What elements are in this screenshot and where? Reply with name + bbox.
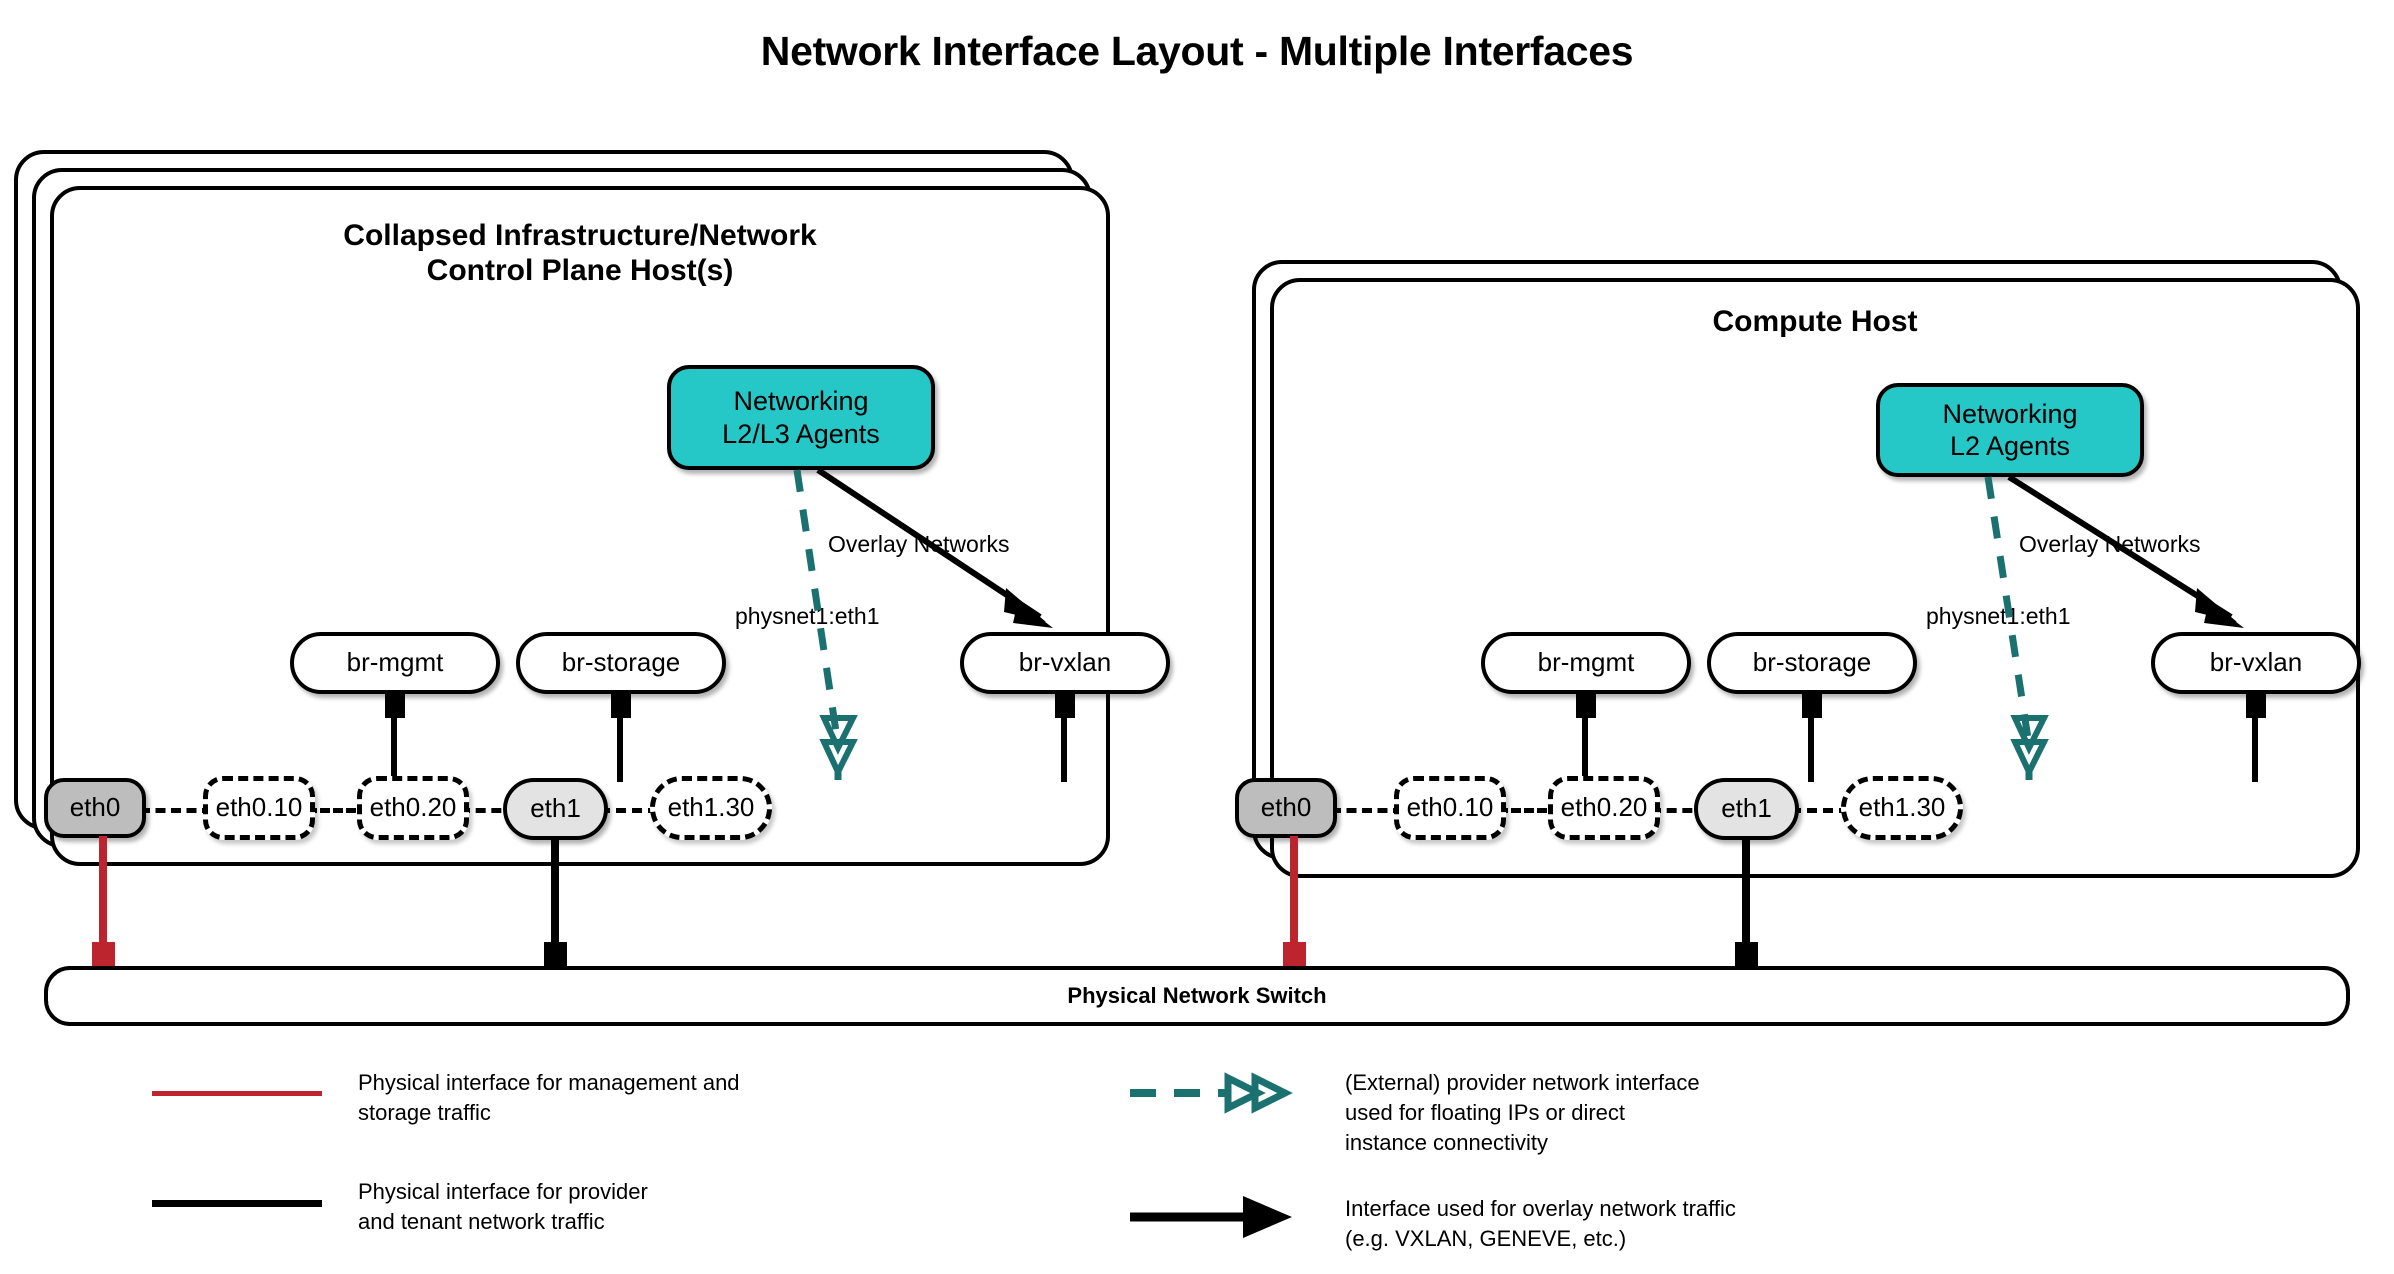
networking-agents-node-compute[interactable]: Networking L2 Agents <box>1876 383 2144 477</box>
interface-eth1-control-plane[interactable]: eth1 <box>503 778 608 840</box>
host-title-line1: Collapsed Infrastructure/Network <box>50 218 1110 253</box>
bridge-label: br-mgmt <box>1538 647 1635 678</box>
interface-label: eth0.20 <box>1561 792 1648 823</box>
interface-eth0-20-control-plane[interactable]: eth0.20 <box>357 776 469 840</box>
edge-label-overlay-control-plane: Overlay Networks <box>828 531 1009 558</box>
agents-label-line1: Networking <box>1942 398 2077 430</box>
bridge-br-mgmt-control-plane[interactable]: br-mgmt <box>290 632 500 694</box>
interface-eth0-20-compute[interactable]: eth0.20 <box>1548 776 1660 840</box>
interface-eth0-10-control-plane[interactable]: eth0.10 <box>203 776 315 840</box>
interface-label: eth1 <box>1721 793 1772 824</box>
eth0-downlink-compute <box>1290 836 1298 958</box>
interface-eth1-compute[interactable]: eth1 <box>1694 778 1799 840</box>
legend-swatch-dashed-teal-double-arrow <box>1130 1078 1285 1108</box>
interface-label: eth0.10 <box>216 792 303 823</box>
page-title: Network Interface Layout - Multiple Inte… <box>0 28 2394 75</box>
bridge-br-vxlan-control-plane[interactable]: br-vxlan <box>960 632 1170 694</box>
host-title-line1: Compute Host <box>1270 304 2360 339</box>
edge-label-overlay-compute: Overlay Networks <box>2019 531 2200 558</box>
bridge-connector-line <box>1582 714 1588 782</box>
bridge-br-storage-compute[interactable]: br-storage <box>1707 632 1917 694</box>
agents-label-line1: Networking <box>733 385 868 417</box>
interface-label: eth1.30 <box>1859 792 1946 823</box>
interface-label: eth1 <box>530 793 581 824</box>
bridge-br-mgmt-compute[interactable]: br-mgmt <box>1481 632 1691 694</box>
diagram-canvas: Network Interface Layout - Multiple Inte… <box>0 0 2394 1274</box>
host-title-line2: Control Plane Host(s) <box>50 253 1110 288</box>
bridge-label: br-storage <box>562 647 681 678</box>
legend-text-external-provider: (External) provider network interface us… <box>1345 1068 1700 1158</box>
networking-agents-node-control-plane[interactable]: Networking L2/L3 Agents <box>667 365 935 470</box>
legend-text-provider-tenant: Physical interface for provider and tena… <box>358 1177 648 1237</box>
bridge-connector-line <box>1808 714 1814 782</box>
interface-eth1-30-compute[interactable]: eth1.30 <box>1841 776 1963 840</box>
bridge-br-storage-control-plane[interactable]: br-storage <box>516 632 726 694</box>
interface-eth0-10-compute[interactable]: eth0.10 <box>1394 776 1506 840</box>
interface-chain-dash <box>140 808 212 813</box>
legend-swatch-solid-red-line <box>152 1091 322 1096</box>
host-title-control-plane: Collapsed Infrastructure/Network Control… <box>50 218 1110 289</box>
agents-label-line2: L2 Agents <box>1950 430 2070 462</box>
interface-label: eth1.30 <box>668 792 755 823</box>
bridge-label: br-vxlan <box>2210 647 2302 678</box>
eth1-downlink-control-plane <box>551 838 559 958</box>
agents-label-line2: L2/L3 Agents <box>722 418 880 450</box>
legend-swatch-solid-black-line <box>152 1200 322 1207</box>
bridge-label: br-storage <box>1753 647 1872 678</box>
interface-label: eth0 <box>1261 792 1312 823</box>
edge-label-provider-control-plane: physnet1:eth1 <box>735 603 880 630</box>
interface-eth0-control-plane[interactable]: eth0 <box>44 778 146 838</box>
bridge-connector-line <box>617 714 623 782</box>
interface-label: eth0.10 <box>1407 792 1494 823</box>
bridge-label: br-mgmt <box>347 647 444 678</box>
host-title-compute: Compute Host <box>1270 304 2360 339</box>
interface-chain-dash <box>1331 808 1403 813</box>
interface-label: eth0 <box>70 792 121 823</box>
physical-network-switch[interactable]: Physical Network Switch <box>44 966 2350 1026</box>
bridge-br-vxlan-compute[interactable]: br-vxlan <box>2151 632 2361 694</box>
legend-text-overlay-traffic: Interface used for overlay network traff… <box>1345 1194 1736 1254</box>
bridge-connector-line <box>2252 714 2258 782</box>
bridge-connector-line <box>391 714 397 782</box>
eth1-downlink-compute <box>1742 838 1750 958</box>
switch-label: Physical Network Switch <box>1067 983 1326 1009</box>
bridge-connector-line <box>1061 714 1067 782</box>
interface-label: eth0.20 <box>370 792 457 823</box>
bridge-label: br-vxlan <box>1019 647 1111 678</box>
interface-eth1-30-control-plane[interactable]: eth1.30 <box>650 776 772 840</box>
legend-swatch-solid-black-arrow <box>1130 1196 1292 1238</box>
legend-text-mgmt-storage: Physical interface for management and st… <box>358 1068 740 1128</box>
eth0-downlink-control-plane <box>99 836 107 958</box>
interface-eth0-compute[interactable]: eth0 <box>1235 778 1337 838</box>
edge-label-provider-compute: physnet1:eth1 <box>1926 603 2071 630</box>
